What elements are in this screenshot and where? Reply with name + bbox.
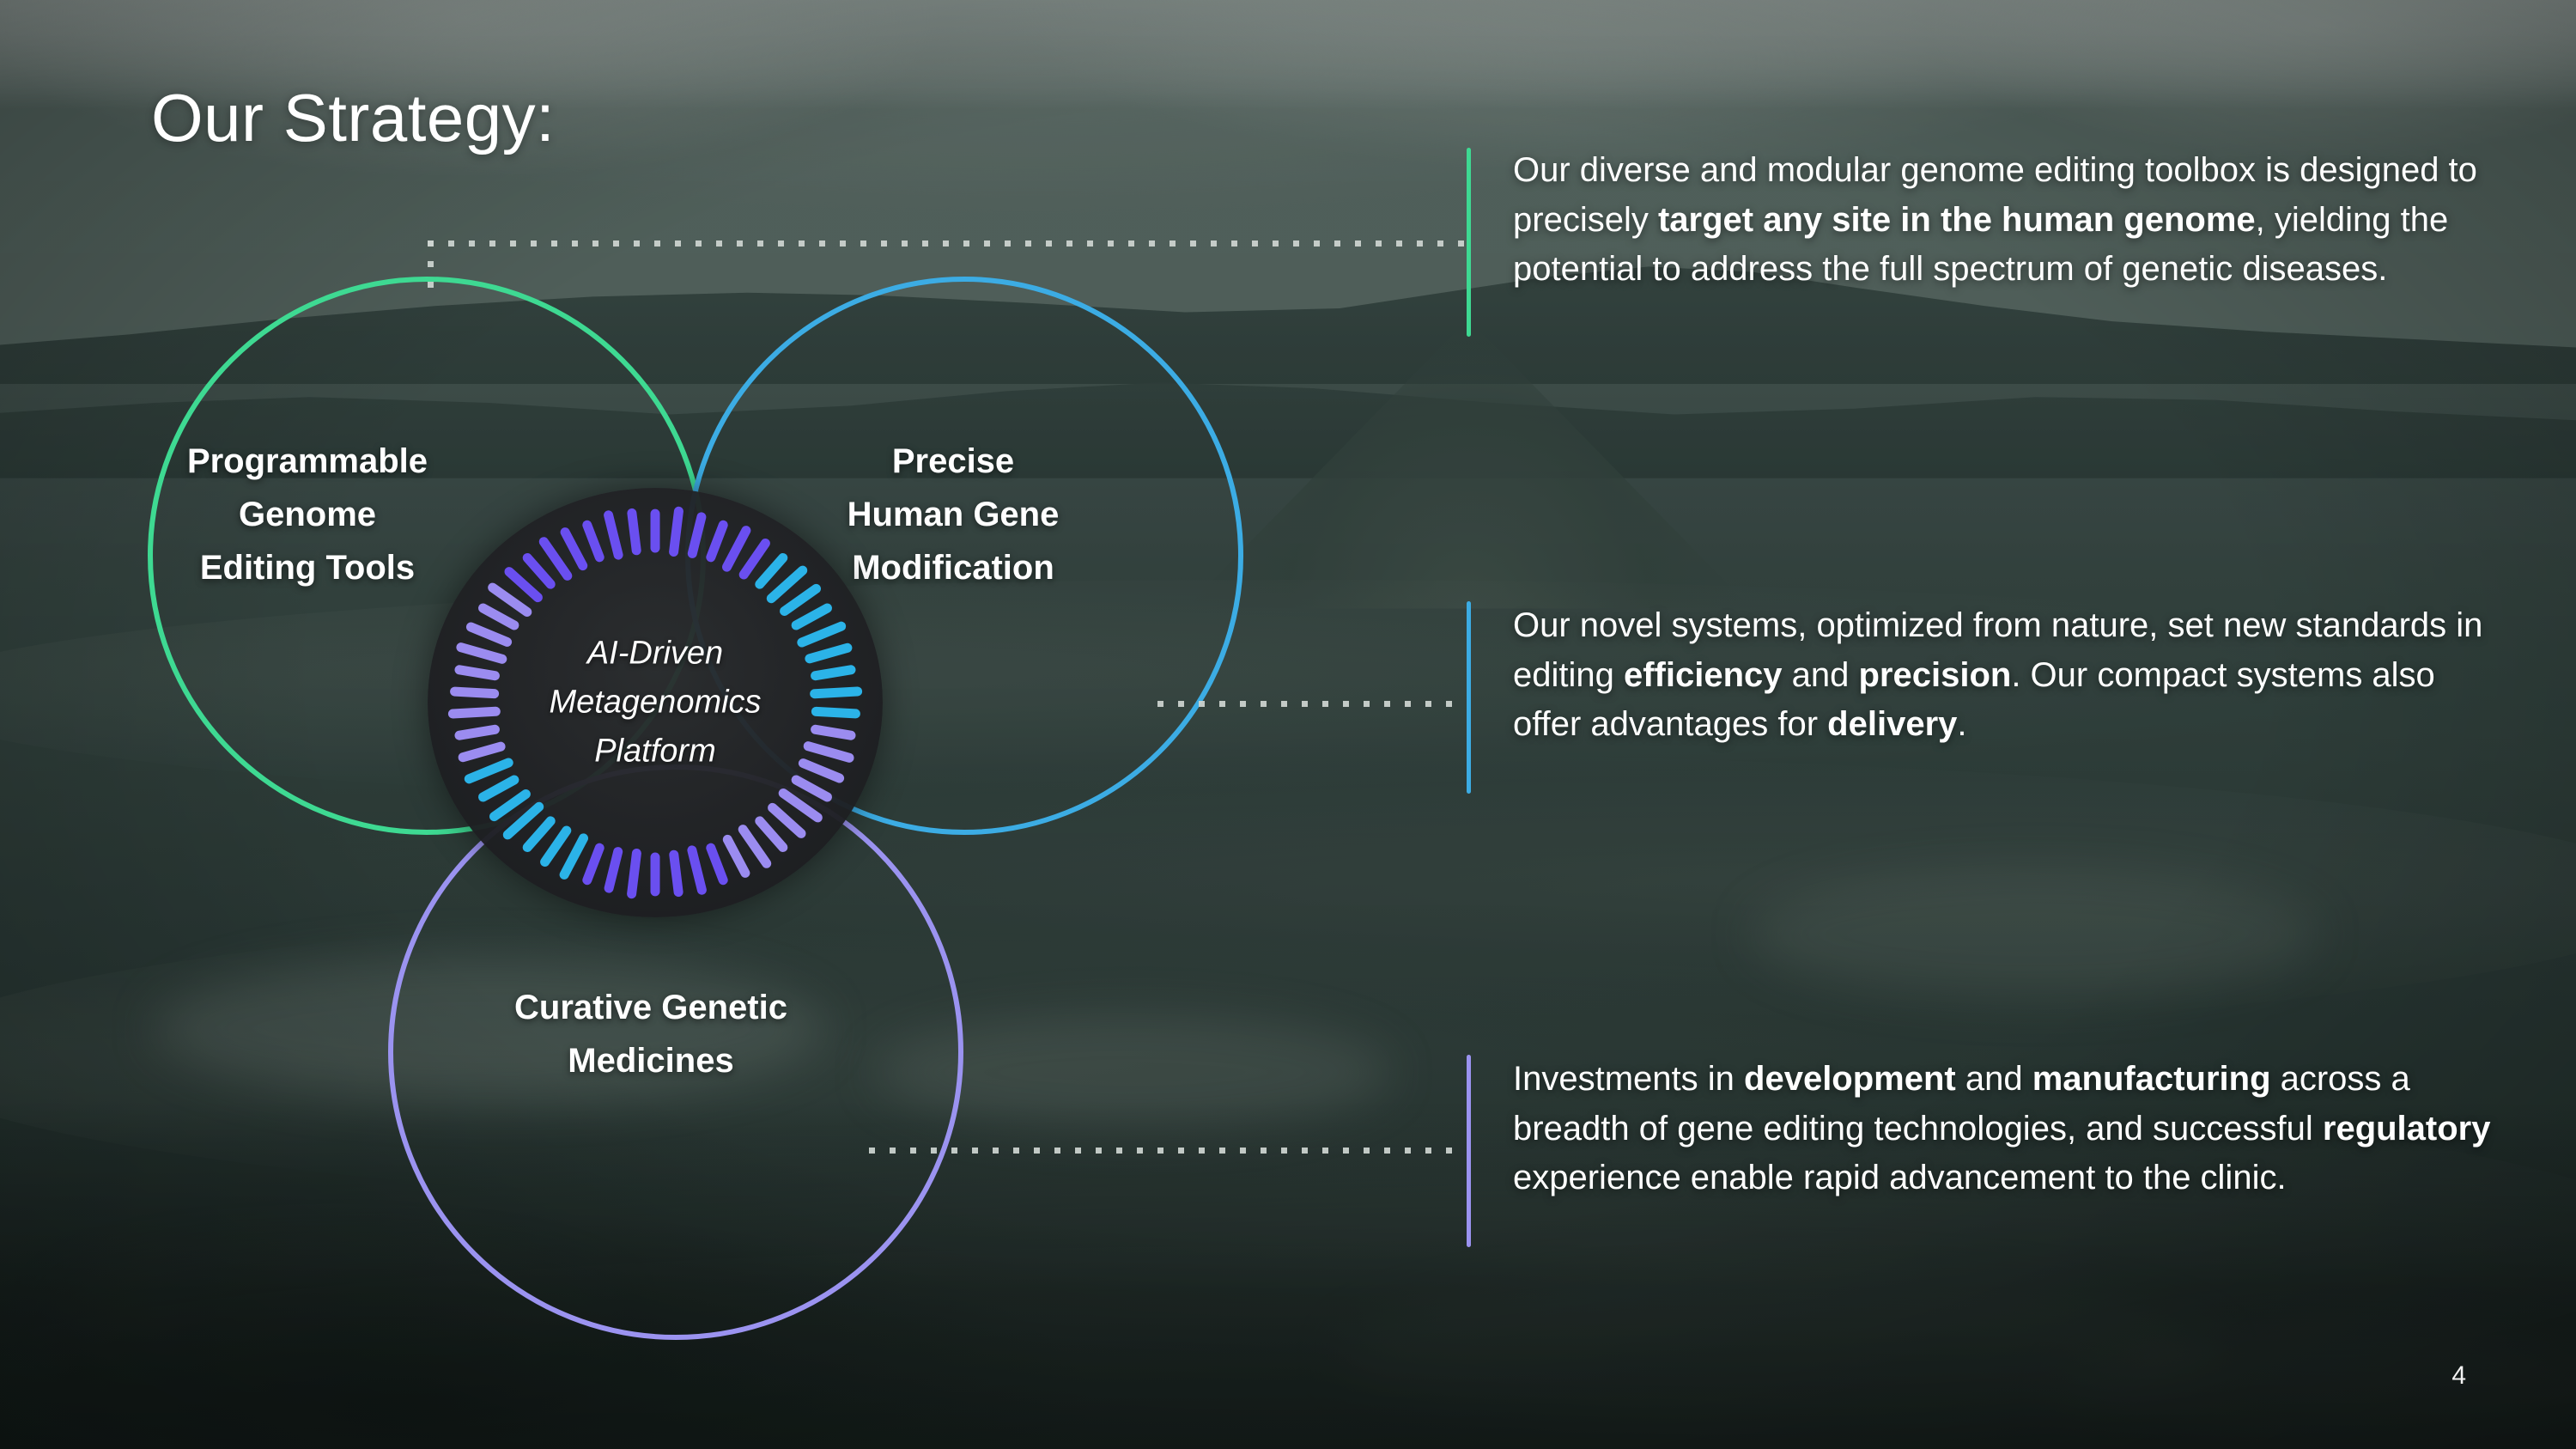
hub-spoke: [564, 838, 583, 875]
accent-bar-1: [1467, 148, 1471, 337]
emphasis-text: target any site in the human genome: [1658, 201, 2256, 239]
hub-spoke: [785, 588, 817, 611]
venn-label-line: Curative Genetic: [471, 981, 831, 1034]
body-text: and: [1783, 656, 1859, 694]
hub-spoke: [773, 807, 801, 833]
hub-spoke: [760, 558, 783, 585]
hub-spoke: [527, 558, 550, 585]
venn-label-line: Precise: [799, 435, 1108, 488]
body-text: Investments in: [1513, 1060, 1744, 1098]
accent-bar-3: [1467, 1055, 1471, 1247]
venn-label-curative: Curative Genetic Medicines: [471, 981, 831, 1087]
hub-spoke: [744, 544, 765, 575]
venn-label-line: Programmable: [161, 435, 453, 488]
connector-dotted-1-stub: [428, 240, 434, 294]
hub-spoke: [771, 570, 802, 599]
hub-label: AI-Driven Metagenomics Platform: [428, 630, 883, 776]
hub-spoke: [509, 572, 538, 598]
connector-dotted-3: [869, 1148, 1468, 1154]
hub-spoke: [674, 855, 678, 892]
hub-spoke: [587, 848, 599, 880]
body-text: and: [1956, 1060, 2032, 1098]
hub-spoke: [483, 608, 514, 625]
emphasis-text: development: [1744, 1060, 1956, 1098]
hub-spoke: [609, 852, 618, 889]
slide-canvas: Our Strategy: Programmable Genome Editin…: [0, 0, 2576, 1449]
hub-spoke: [507, 807, 538, 835]
connector-dotted-1: [428, 240, 1468, 247]
hub-spoke: [632, 513, 636, 550]
hub-spoke: [674, 511, 679, 551]
body-text: experience enable rapid advancement to t…: [1513, 1159, 2287, 1196]
hub-spoke: [587, 525, 599, 557]
hub-spoke: [565, 533, 583, 566]
hub-label-line: Platform: [428, 728, 883, 776]
hub-spoke: [692, 850, 702, 890]
emphasis-text: delivery: [1827, 705, 1957, 743]
venn-label-line: Medicines: [471, 1034, 831, 1087]
hub-spoke: [760, 821, 783, 848]
hub-spoke: [527, 821, 550, 848]
hub-spoke: [727, 531, 746, 568]
accent-bar-2: [1467, 601, 1471, 794]
hub-label-line: Metagenomics: [428, 679, 883, 728]
venn-label-line: Editing Tools: [161, 541, 453, 594]
hub-spoke: [493, 588, 527, 612]
emphasis-text: regulatory: [2323, 1110, 2491, 1148]
emphasis-text: manufacturing: [2032, 1060, 2271, 1098]
hub-label-line: AI-Driven: [428, 630, 883, 679]
hub-spoke: [783, 794, 817, 818]
hub-spoke: [692, 517, 702, 554]
venn-label-line: Genome: [161, 488, 453, 541]
hub-spoke: [495, 795, 526, 817]
hub-spoke: [796, 780, 827, 797]
connector-dotted-2: [1157, 701, 1468, 707]
hub-spoke: [632, 854, 637, 894]
hub-spoke: [544, 542, 568, 576]
hub-spoke: [545, 831, 567, 862]
hub-spoke: [743, 830, 767, 864]
hub-spoke: [796, 608, 827, 625]
platform-hub: AI-Driven Metagenomics Platform: [428, 488, 883, 917]
hub-spoke: [711, 525, 723, 557]
emphasis-text: efficiency: [1624, 656, 1783, 694]
hub-spoke: [711, 848, 723, 880]
page-number: 4: [2451, 1361, 2466, 1391]
venn-label-programmable: Programmable Genome Editing Tools: [161, 435, 453, 594]
hub-spoke: [483, 780, 514, 797]
body-text: .: [1957, 705, 1966, 743]
callout-text-1: Our diverse and modular genome editing t…: [1513, 146, 2492, 295]
emphasis-text: precision: [1858, 656, 2011, 694]
hub-spoke: [609, 515, 619, 555]
venn-diagram: Programmable Genome Editing Tools Precis…: [0, 0, 1340, 1288]
callout-text-2: Our novel systems, optimized from nature…: [1513, 601, 2492, 750]
callout-text-3: Investments in development and manufactu…: [1513, 1055, 2492, 1203]
hub-spoke: [727, 839, 745, 873]
